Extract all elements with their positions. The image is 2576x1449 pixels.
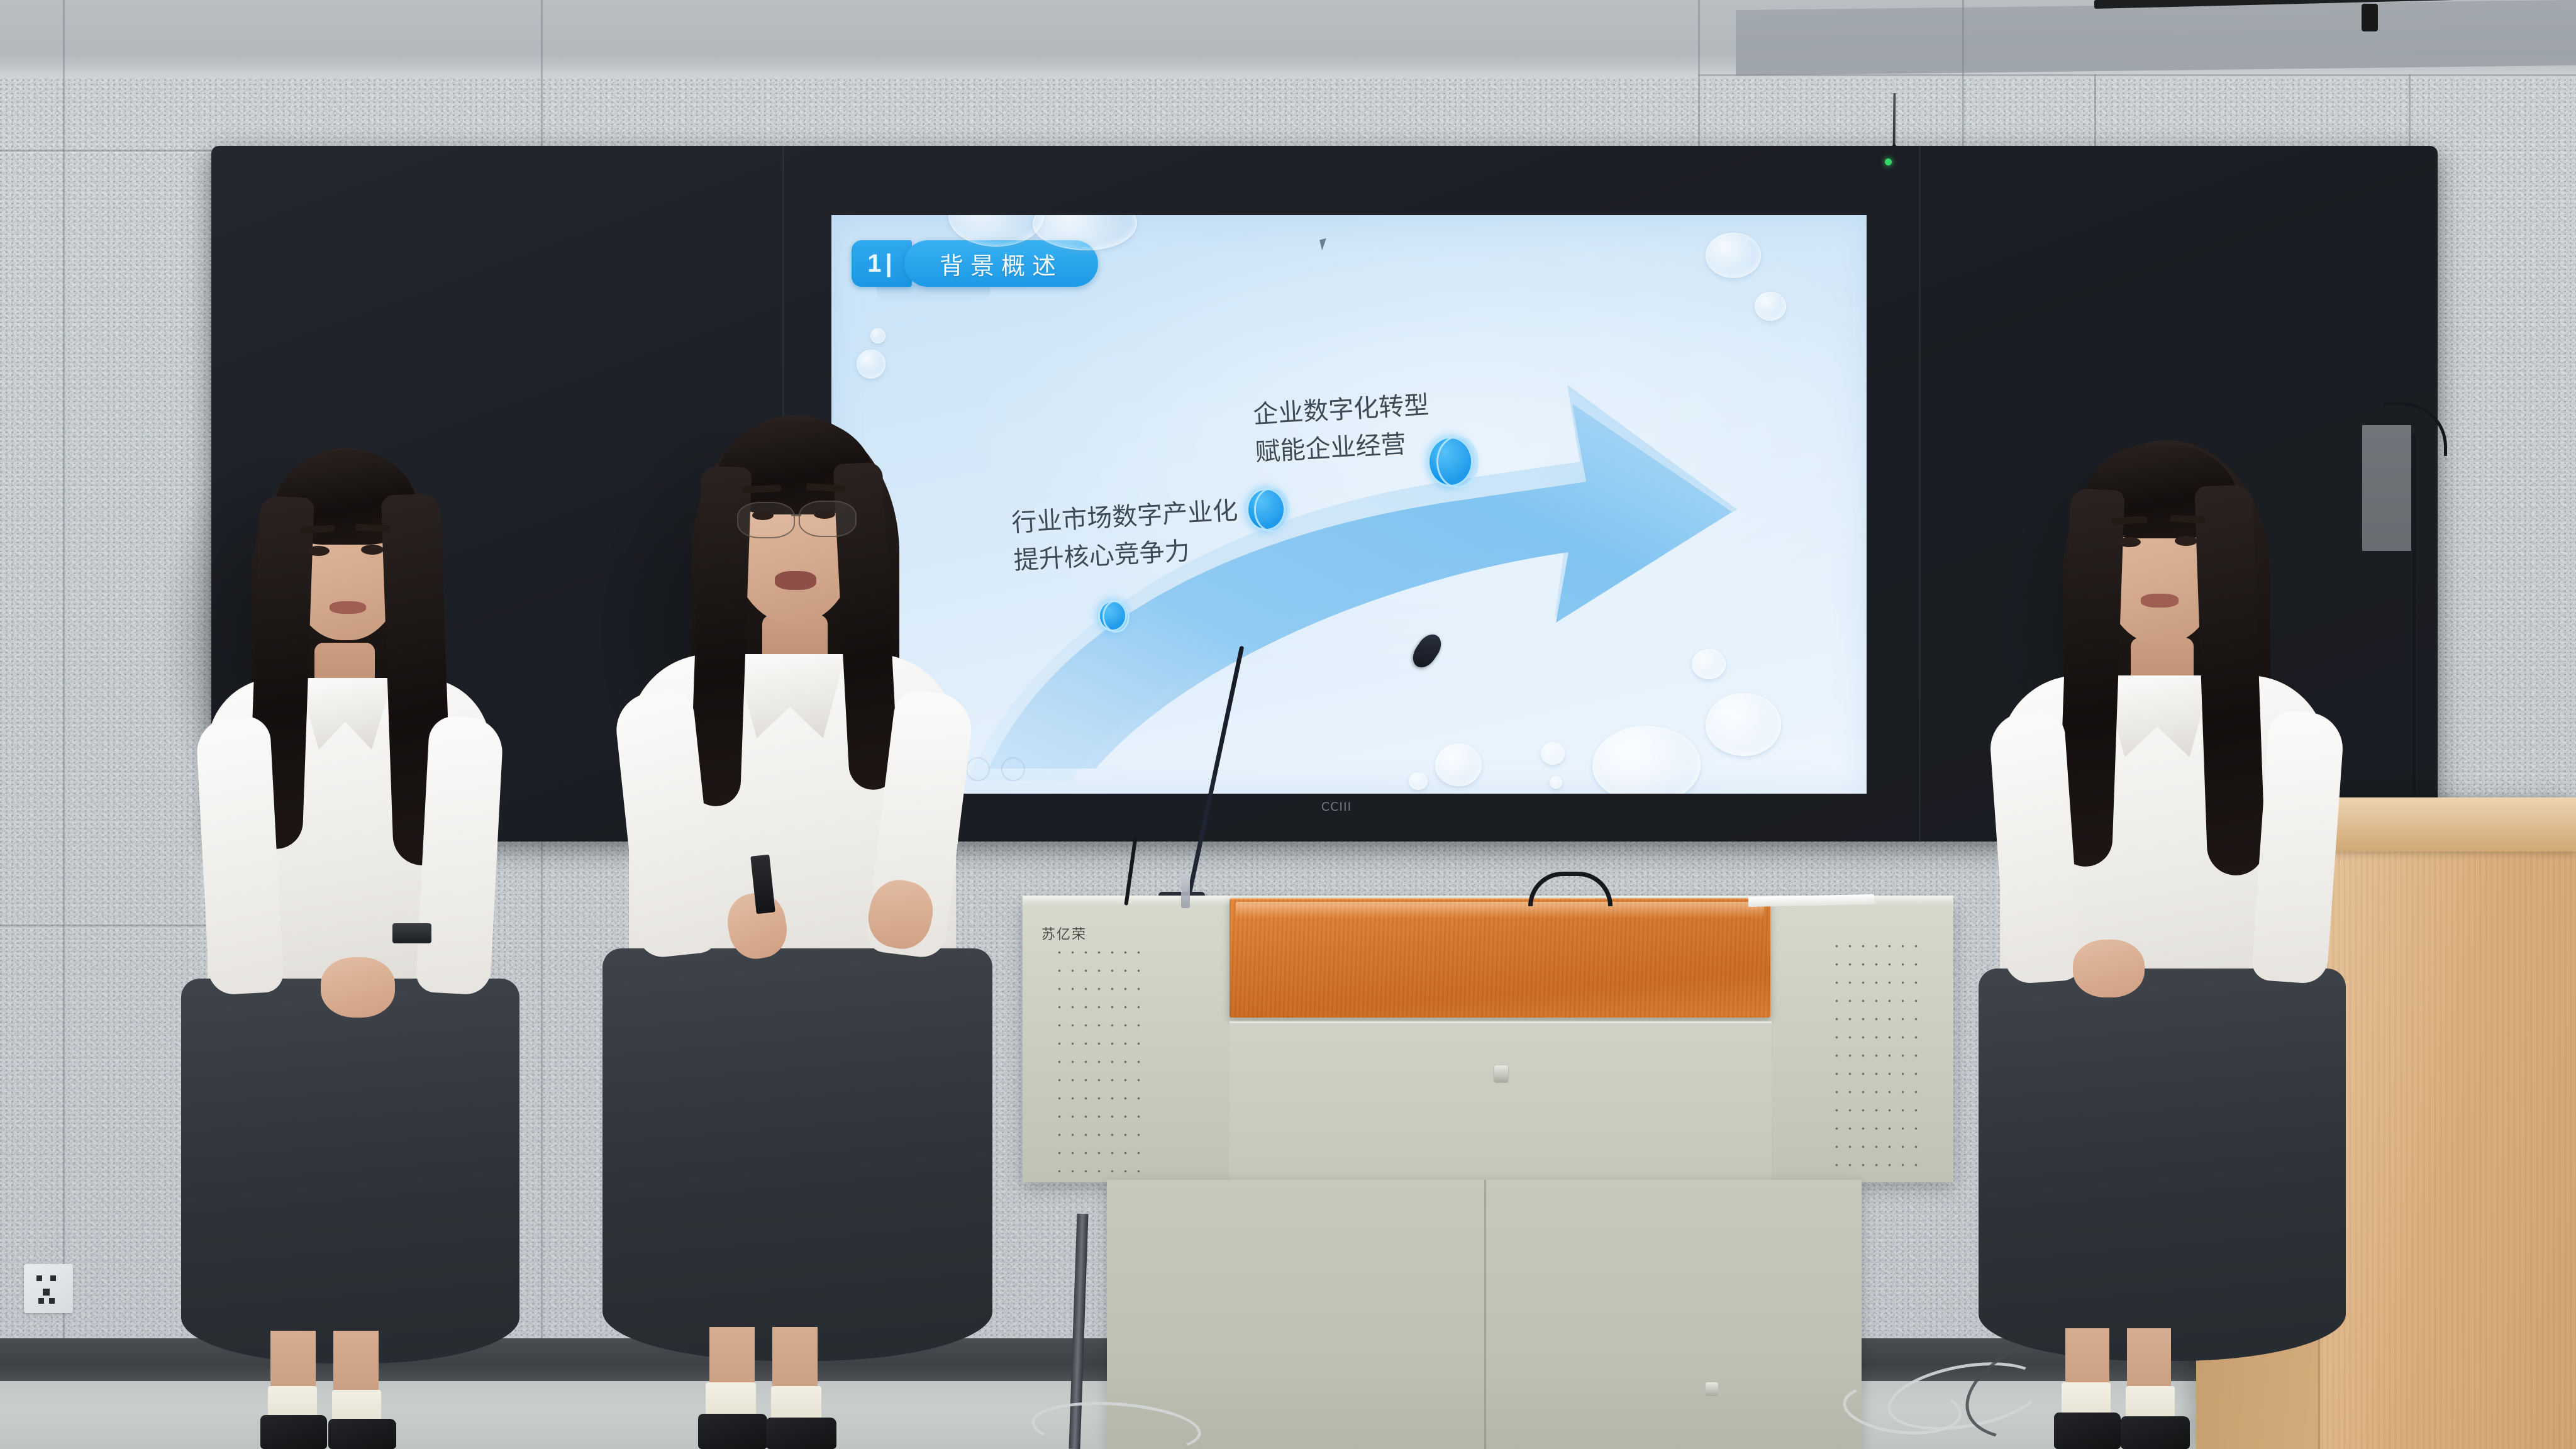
slide-text-block-2: 企业数字化转型 赋能企业经营 bbox=[1252, 386, 1432, 471]
shoe bbox=[2054, 1413, 2121, 1449]
badge-drop-shadow bbox=[877, 284, 990, 302]
eyeglasses-bridge bbox=[791, 514, 801, 516]
toolbar-pen-icon[interactable] bbox=[966, 757, 990, 781]
cabinet-lock-icon[interactable] bbox=[1494, 1065, 1508, 1082]
eyeglasses-right-lens bbox=[799, 501, 857, 537]
section-divider: | bbox=[885, 250, 896, 278]
arm-left bbox=[196, 715, 284, 996]
power-led-indicator bbox=[1885, 158, 1892, 165]
wall-seam bbox=[0, 924, 226, 926]
wall-seam bbox=[1698, 74, 2576, 76]
eyeglasses-left-lens bbox=[737, 502, 795, 538]
bubble-decoration bbox=[1435, 743, 1482, 786]
bubble-decoration bbox=[1692, 649, 1726, 679]
console-brand-mark: 苏亿荣 bbox=[1041, 923, 1123, 942]
skirt bbox=[602, 948, 992, 1361]
bubble-decoration bbox=[857, 350, 885, 379]
hands-clasped bbox=[2073, 940, 2145, 997]
bubble-decoration bbox=[1550, 776, 1562, 789]
display-bezel-seam bbox=[1919, 146, 1921, 841]
slide-text-block-1: 行业市场数字产业化 提升核心竞争力 bbox=[1011, 492, 1241, 580]
shoe bbox=[260, 1415, 327, 1449]
wall-seam bbox=[63, 0, 65, 1340]
hanging-cable bbox=[2412, 434, 2416, 849]
wood-panel-highlight bbox=[1236, 902, 1764, 918]
lower-cabinet-lock-icon[interactable] bbox=[1706, 1382, 1718, 1396]
section-number-chip: 1| bbox=[852, 240, 912, 287]
curved-arrow-graphic bbox=[831, 215, 1867, 794]
speaker-grille-right bbox=[1830, 937, 1918, 1182]
rail-drop-bracket bbox=[2362, 4, 2378, 31]
shoe bbox=[328, 1419, 396, 1449]
arrow-node-marker bbox=[1098, 600, 1127, 631]
wall-power-outlet[interactable] bbox=[24, 1264, 73, 1313]
bubble-decoration bbox=[1541, 742, 1565, 765]
console-cabinet-door[interactable] bbox=[1230, 1021, 1772, 1184]
shoe bbox=[698, 1414, 767, 1449]
shoe bbox=[2121, 1416, 2190, 1449]
wrist-watch bbox=[392, 923, 431, 943]
bubble-decoration bbox=[1706, 693, 1781, 756]
skirt bbox=[181, 979, 519, 1363]
cabinet-seam bbox=[1484, 1180, 1486, 1449]
section-number: 1 bbox=[867, 250, 885, 278]
ceiling-shadow-band bbox=[1736, 0, 2576, 75]
bubble-decoration bbox=[870, 328, 885, 343]
shoe bbox=[766, 1418, 836, 1449]
bubble-decoration bbox=[1755, 292, 1786, 321]
bubble-decoration bbox=[1706, 233, 1761, 278]
skirt bbox=[1979, 969, 2346, 1361]
mic-stand-connector bbox=[1181, 874, 1190, 908]
arrow-node-marker bbox=[1428, 436, 1473, 487]
display-brand-logo: CCIII bbox=[1296, 800, 1377, 816]
speaker-grille-left bbox=[1053, 943, 1141, 1189]
arrow-node-marker bbox=[1246, 488, 1285, 531]
hands-clasped bbox=[321, 957, 395, 1018]
slideshow-toolbar[interactable] bbox=[966, 757, 1025, 781]
toolbar-more-icon[interactable] bbox=[1001, 757, 1025, 781]
presentation-slide[interactable]: 1| 背景概述 行业市场数字产业化 提升核心竞争力 企业数字化转型 赋能企业经营 bbox=[831, 215, 1867, 794]
presentation-room-scene: CCIII bbox=[0, 0, 2576, 1449]
arm-right bbox=[416, 715, 504, 996]
bubble-decoration bbox=[1409, 772, 1428, 790]
